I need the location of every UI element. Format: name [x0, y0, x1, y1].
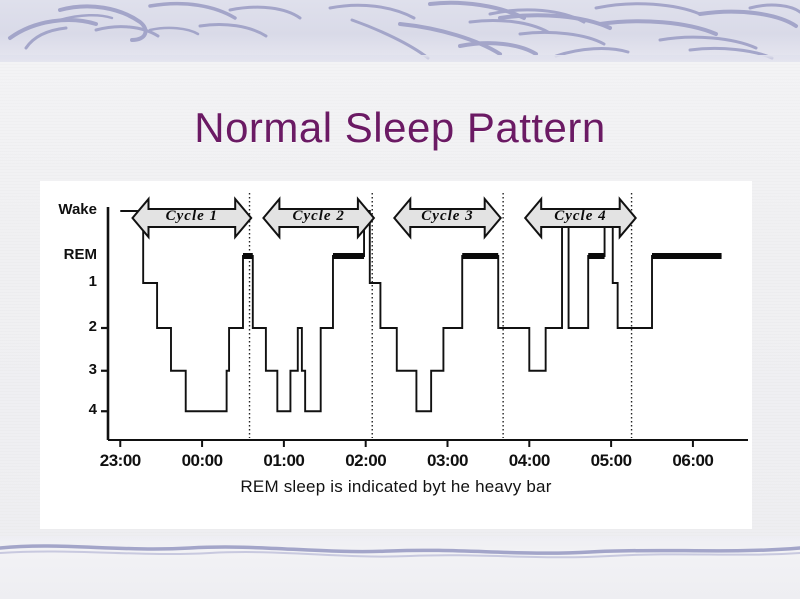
swirl-ornament-bottom-icon [0, 536, 800, 599]
decorative-band-top [0, 0, 800, 62]
chart-caption: REM sleep is indicated byt he heavy bar [40, 477, 752, 497]
slide-canvas: Normal Sleep Pattern WakeREM1234 23:0000… [0, 0, 800, 599]
cycle-label-3: Cycle 3 [387, 208, 507, 225]
hypnogram-chart: WakeREM1234 23:0000:0001:0002:0003:0004:… [40, 181, 752, 529]
cycle-label-1: Cycle 1 [132, 208, 252, 225]
cycle-label-2: Cycle 2 [259, 208, 379, 225]
cycle-label-4: Cycle 4 [520, 208, 640, 225]
decorative-band-bottom [0, 536, 800, 599]
page-title: Normal Sleep Pattern [0, 104, 800, 152]
swirl-ornament-top-icon [0, 0, 800, 62]
band-top-fade [0, 55, 800, 62]
